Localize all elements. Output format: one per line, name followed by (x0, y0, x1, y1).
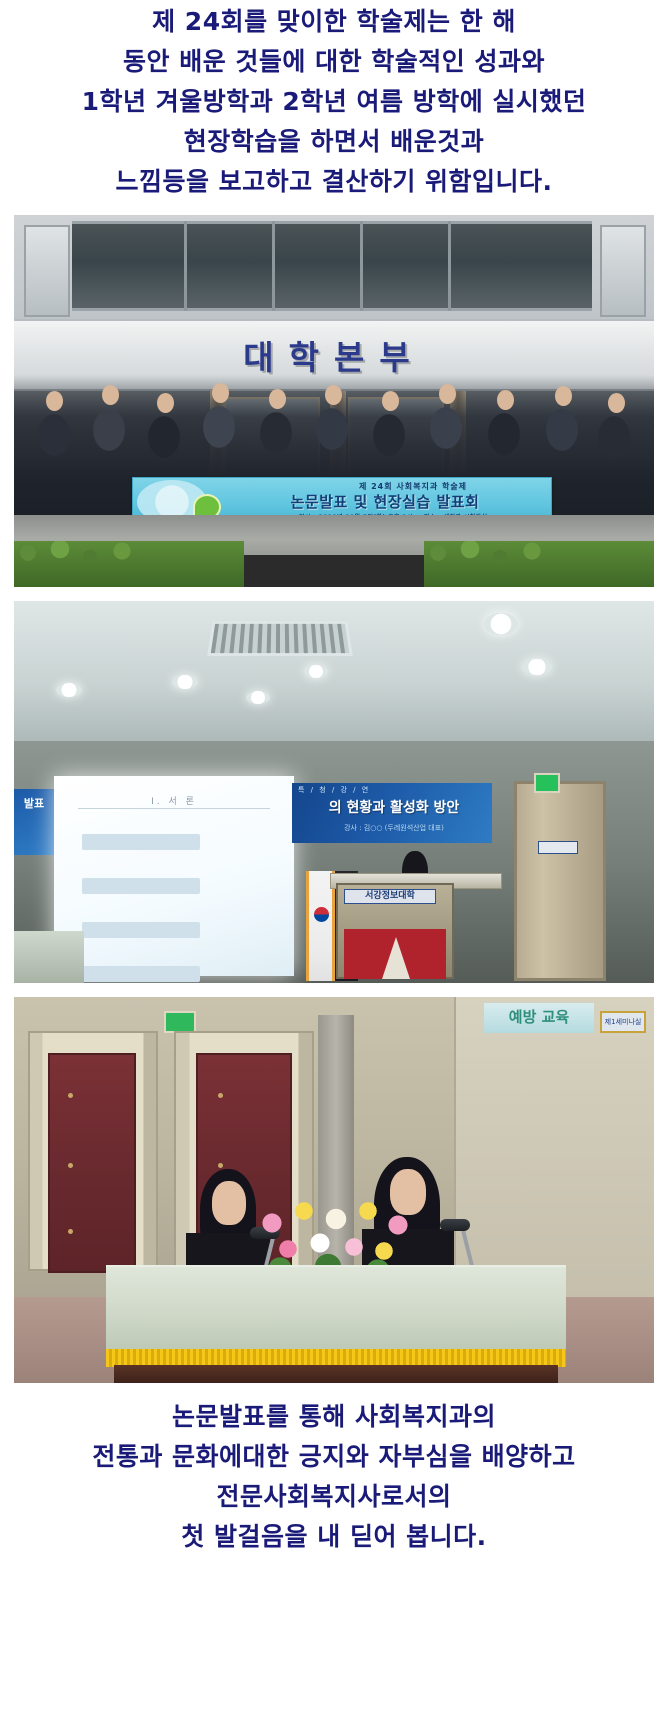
ceiling-vent-panel (207, 621, 353, 656)
right-window (600, 225, 646, 317)
podium-nameplate: 서강정보대학 (344, 889, 436, 904)
wall-banner-title: 의 현황과 활성화 방안 (296, 797, 492, 817)
intro-line-3: 1학년 겨울방학과 2학년 여름 방학에 실시했던 (0, 82, 668, 122)
hedge-right (424, 541, 654, 587)
intro-line-2: 동안 배운 것들에 대한 학술적인 성과와 (0, 42, 668, 82)
hall-door (514, 781, 606, 981)
exit-sign-icon (534, 773, 560, 793)
ceiling-spotlight (484, 613, 518, 635)
window-mullion (448, 221, 451, 311)
person-head (555, 386, 572, 406)
slide-bullet (82, 966, 200, 982)
ceiling-spotlight (172, 675, 198, 689)
person-head (102, 385, 119, 405)
window-mullion (272, 221, 275, 311)
wall-banner-subtitle: 강사 : 김○○ (두레원석산업 대표) (296, 823, 492, 833)
door-left (48, 1053, 136, 1273)
person-head (157, 393, 174, 413)
closing-line-1: 논문발표를 통해 사회복지과의 (0, 1397, 668, 1437)
building-sign-text: 대학본부 (14, 331, 654, 379)
intro-text-block: 제 24회를 맞이한 학술제는 한 해 동안 배운 것들에 대한 학술적인 성과… (0, 0, 668, 213)
podium-chevron-decoration (382, 937, 410, 979)
wall-banner: 특 / 청 / 강 / 연 의 현황과 활성화 방안 강사 : 김○○ (두레원… (292, 783, 492, 843)
person-head (269, 389, 286, 409)
door-stud (68, 1229, 73, 1234)
closing-line-4: 첫 발걸음을 내 딛어 봅니다. (0, 1517, 668, 1557)
door-sign (538, 841, 578, 854)
intro-line-1: 제 24회를 맞이한 학술제는 한 해 (0, 2, 668, 42)
window-mullion (184, 221, 187, 311)
microphone-icon (440, 1219, 470, 1231)
ceiling-spotlight (522, 659, 552, 675)
intro-line-4: 현장학습을 하면서 배운것과 (0, 122, 668, 162)
ceiling-spotlight (304, 665, 328, 678)
photo-presentation-in-lecture-hall: 발표 Ⅰ. 서 론 특 / 청 / 강 / 연 의 현황과 활성화 방안 강사 … (14, 601, 654, 983)
door-stud (68, 1163, 73, 1168)
wall-banner-eyebrow: 특 / 청 / 강 / 연 (298, 785, 370, 795)
left-window (24, 225, 70, 317)
photo-group-in-front-of-university-headquarters: 대학본부 제 24회 사회복지과 학술제 논문발표 및 현장실습 발표회 □ 일… (14, 215, 654, 587)
exit-sign-icon (164, 1011, 196, 1033)
side-banner: 발표 (14, 789, 54, 855)
window-mullion (360, 221, 363, 311)
closing-line-2: 전통과 문화에대한 긍지와 자부심을 배양하고 (0, 1437, 668, 1477)
table-cloth (106, 1265, 566, 1353)
person-head (439, 384, 456, 404)
ceiling-spotlight (56, 683, 82, 697)
person-head (46, 391, 63, 411)
person-head (325, 385, 342, 405)
person-head (497, 390, 514, 410)
person-head (382, 391, 399, 411)
presenter-left-head (212, 1181, 246, 1225)
person-head (608, 393, 625, 413)
slide-bullet (82, 922, 200, 938)
table-base (114, 1365, 558, 1383)
ceiling-spotlight (246, 691, 270, 704)
room-wall-right-panel (454, 997, 654, 1297)
person-head (212, 383, 229, 403)
slide-title: Ⅰ. 서 론 (54, 794, 294, 807)
door-stud (218, 1163, 223, 1168)
side-table (14, 931, 84, 983)
intro-line-5: 느낌등을 보고하고 결산하기 위함입니다. (0, 162, 668, 202)
building-glass-band (72, 221, 592, 311)
korean-flag-icon (306, 871, 332, 981)
room-name-sign: 제1세미나실 (600, 1011, 646, 1033)
photo-two-presenters-at-table: 예방 교육 제1세미나실 (14, 997, 654, 1383)
door-stud (68, 1093, 73, 1098)
door-stud (218, 1093, 223, 1098)
slide-bullet (82, 878, 200, 894)
slide-divider (78, 808, 270, 809)
closing-text-block: 논문발표를 통해 사회복지과의 전통과 문화에대한 긍지와 자부심을 배양하고 … (0, 1391, 668, 1557)
slide-bullet (82, 834, 200, 850)
banner-title: 논문발표 및 현장실습 발표회 (225, 491, 545, 512)
hedge-left (14, 541, 244, 587)
green-wall-sign: 예방 교육 (484, 1003, 594, 1033)
closing-line-3: 전문사회복지사로서의 (0, 1477, 668, 1517)
projection-screen: Ⅰ. 서 론 (54, 776, 294, 976)
